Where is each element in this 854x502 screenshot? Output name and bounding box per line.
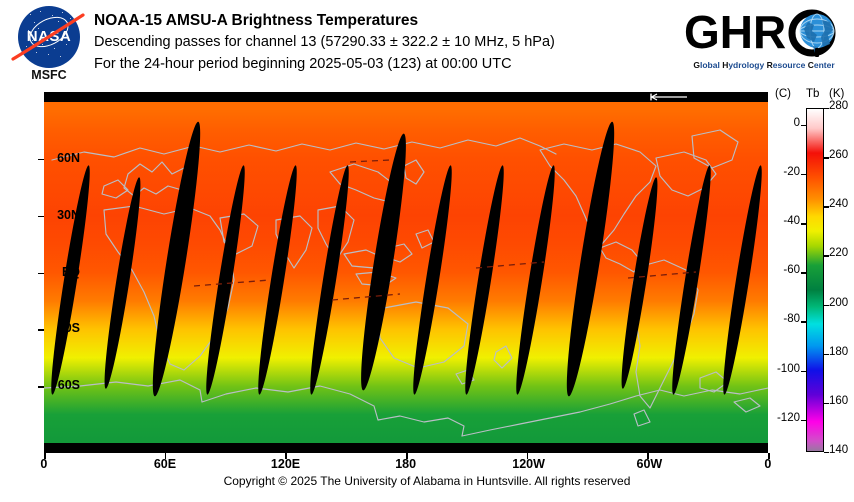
latitude-tick-mark: [38, 273, 44, 275]
colorbar-celsius-tick-label: -40: [783, 215, 800, 227]
colorbar-kelvin-tick-mark: [824, 206, 829, 207]
longitude-tick-label: 60W: [637, 457, 663, 471]
latitude-tick-mark: [38, 386, 44, 388]
colorbar-kelvin-tick-mark: [824, 255, 829, 256]
nasa-swoosh-icon: [11, 13, 87, 63]
latitude-tick-mark: [38, 216, 44, 218]
latitude-tick-mark: [38, 159, 44, 161]
longitude-tick-mark: [44, 453, 46, 459]
longitude-tick-label: 0: [764, 457, 771, 471]
colorbar-celsius-tick-mark: [801, 125, 806, 126]
colorbar-celsius-tick-label: -120: [777, 412, 800, 424]
colorbar-kelvin-tick-label: 200: [829, 297, 848, 309]
colorbar-celsius-tick-label: -60: [783, 264, 800, 276]
longitude-tick-mark: [647, 453, 649, 459]
colorbar[interactable]: [806, 108, 824, 452]
colorbar-gradient: [807, 109, 823, 451]
colorbar-celsius-tick-mark: [801, 272, 806, 273]
colorbar-kelvin-tick-label: 140: [829, 444, 848, 456]
colorbar-celsius-tick-label: 0: [794, 117, 800, 129]
colorbar-kelvin-tick-label: 160: [829, 395, 848, 407]
colorbar-kelvin-tick-mark: [824, 452, 829, 453]
msfc-label: MSFC: [12, 68, 86, 82]
colorbar-celsius-tick-mark: [801, 371, 806, 372]
ghrc-tagline: Global Hydrology Resource Center: [684, 60, 844, 70]
map-data-area: [44, 102, 768, 443]
colorbar-celsius-tick-mark: [801, 223, 806, 224]
colorbar-celsius-tick-mark: [801, 174, 806, 175]
colorbar-celsius-tick-mark: [801, 420, 806, 421]
longitude-tick-mark: [768, 453, 770, 459]
plot-page: NASA MSFC NOAA-15 AMSU-A Brightness Temp…: [0, 0, 854, 502]
latitude-tick-mark: [38, 329, 44, 331]
colorbar-kelvin-tick-label: 180: [829, 346, 848, 358]
colorbar-kelvin-tick-mark: [824, 157, 829, 158]
longitude-tick-mark: [285, 453, 287, 459]
latitude-tick-label: 60N: [57, 151, 80, 165]
descending-node-dashed-lines: [44, 102, 768, 443]
svg-text:GHR: GHR: [684, 6, 786, 58]
colorbar-kelvin-tick-label: 280: [829, 100, 848, 112]
ghrc-logo: GHR Global Hydrology Resource Center: [684, 6, 844, 78]
colorbar-celsius-tick-label: -80: [783, 313, 800, 325]
longitude-tick-mark: [527, 453, 529, 459]
longitude-tick-label: 0: [40, 457, 47, 471]
swath-direction-arrow-icon: [648, 93, 688, 101]
longitude-tick-label: 180: [395, 457, 416, 471]
page-title: NOAA-15 AMSU-A Brightness Temperatures: [94, 10, 555, 31]
latitude-tick-label: 60S: [58, 378, 80, 392]
colorbar-celsius-header: (C): [775, 88, 791, 100]
colorbar-kelvin-tick-mark: [824, 354, 829, 355]
longitude-tick-label: 120W: [512, 457, 545, 471]
colorbar-kelvin-tick-mark: [824, 108, 829, 109]
nasa-logo: NASA MSFC: [12, 6, 86, 84]
colorbar-kelvin-tick-label: 260: [829, 149, 848, 161]
longitude-tick-mark: [406, 453, 408, 459]
colorbar-kelvin-tick-label: 220: [829, 247, 848, 259]
subtitle-period: For the 24-hour period beginning 2025-05…: [94, 53, 555, 75]
title-block: NOAA-15 AMSU-A Brightness Temperatures D…: [94, 10, 555, 75]
longitude-tick-label: 120E: [271, 457, 300, 471]
colorbar-celsius-tick-mark: [801, 321, 806, 322]
longitude-tick-mark: [165, 453, 167, 459]
colorbar-kelvin-tick-mark: [824, 305, 829, 306]
latitude-tick-label: 30N: [57, 208, 80, 222]
colorbar-kelvin-tick-label: 240: [829, 198, 848, 210]
latitude-tick-label: 30S: [58, 321, 80, 335]
colorbar-kelvin-tick-mark: [824, 403, 829, 404]
colorbar-celsius-tick-label: -20: [783, 166, 800, 178]
colorbar-celsius-tick-label: -100: [777, 363, 800, 375]
latitude-tick-label: EQ: [62, 265, 80, 279]
colorbar-kelvin-header: (K): [829, 88, 844, 100]
colorbar-tb-header: Tb: [806, 88, 819, 100]
ghrc-wordmark-icon: GHR: [684, 6, 844, 60]
map-panel[interactable]: [44, 92, 768, 453]
copyright-notice: Copyright © 2025 The University of Alaba…: [0, 474, 854, 488]
subtitle-channel: Descending passes for channel 13 (57290.…: [94, 31, 555, 53]
longitude-tick-label: 60E: [154, 457, 176, 471]
